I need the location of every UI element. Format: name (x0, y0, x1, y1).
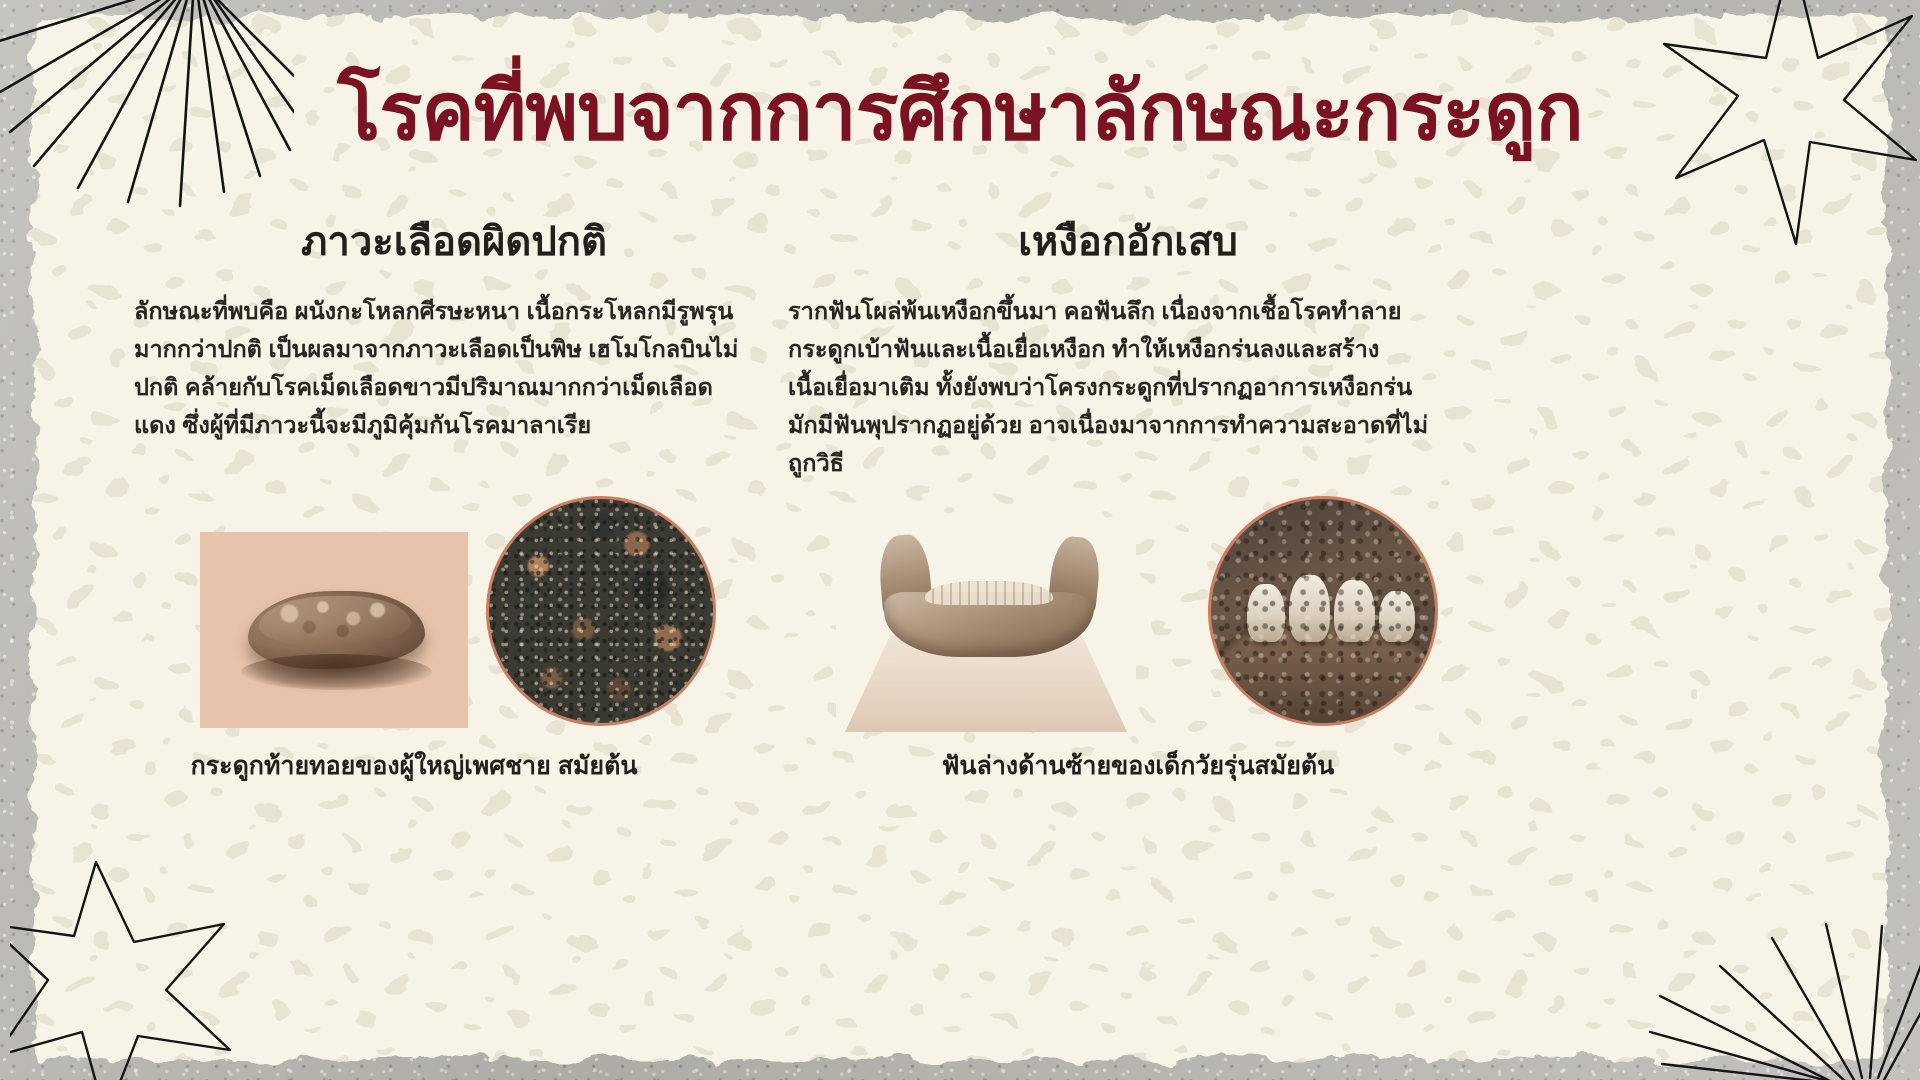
mandible-teeth-row (925, 581, 1053, 604)
body-blood-disorder: ลักษณะที่พบคือ ผนังกะโหลกศีรษะหนา เนื้อก… (134, 292, 746, 444)
sediment-grain-overlay (1211, 499, 1435, 723)
porous-bone-texture (489, 499, 713, 723)
body-gingivitis: รากฟันโผล่พ้นเหงือกขึ้นมา คอฟันลึก เนื่อ… (788, 292, 1440, 482)
tooth-root-exposure-photo (1208, 496, 1438, 726)
heading-gingivitis: เหงือกอักเสบ (788, 218, 1468, 266)
mandible-bone-shape (875, 535, 1103, 665)
occipital-bone-fragment-photo (200, 532, 468, 728)
bone-fragment-shape (248, 591, 425, 669)
page-title: โรคที่พบจากการศึกษาลักษณะกระดูก (38, 70, 1882, 154)
column-gingivitis: เหงือกอักเสบ รากฟันโผล่พ้นเหงือกขึ้นมา ค… (788, 218, 1468, 482)
heading-blood-disorder: ภาวะเลือดผิดปกติ (134, 218, 774, 266)
slide-content: โรคที่พบจากการศึกษาลักษณะกระดูก ภาวะเลือ… (38, 22, 1882, 1054)
porous-bone-surface-photo (486, 496, 716, 726)
column-blood-disorder: ภาวะเลือดผิดปกติ ลักษณะที่พบคือ ผนังกะโห… (134, 218, 774, 444)
mandible-specimen-photo (836, 522, 1136, 732)
figure-group-gingivitis (798, 492, 1478, 742)
caption-blood-disorder: กระดูกท้ายทอยของผู้ใหญ่เพศชาย สมัยต้น (134, 750, 694, 783)
figure-group-blood-disorder (158, 492, 778, 742)
caption-gingivitis: ฟันล่างด้านซ้ายของเด็กวัยรุ่นสมัยต้น (828, 750, 1448, 783)
